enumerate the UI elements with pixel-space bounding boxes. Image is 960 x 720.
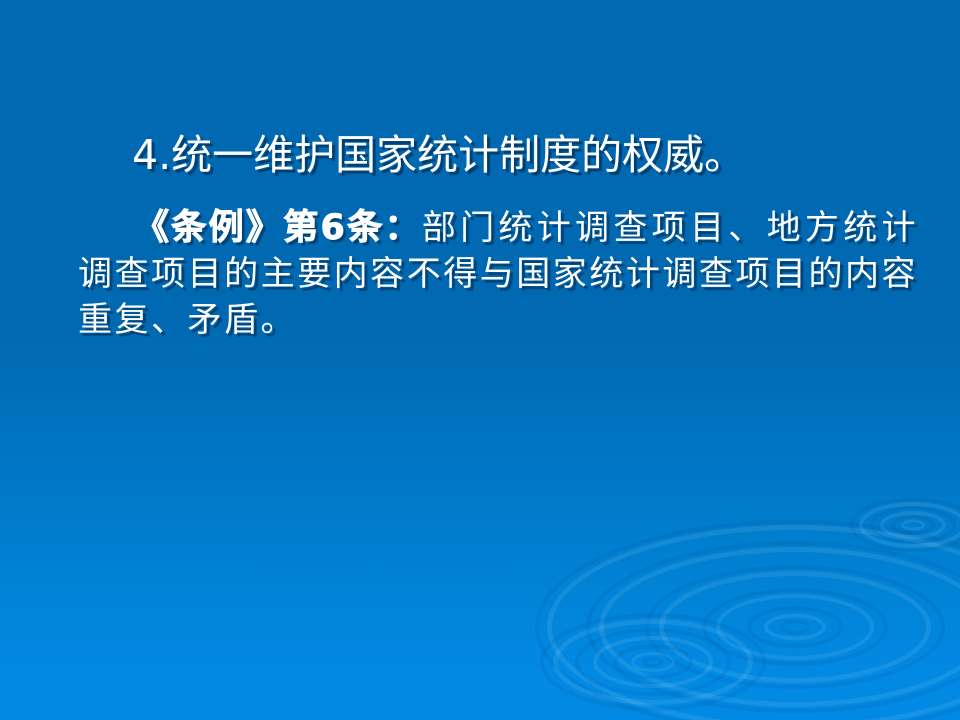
ripple-ring [859, 502, 960, 548]
ripple-ring [747, 606, 843, 648]
slide-body-paragraph: 《条例》第6条：部门统计调查项目、地方统计调查项目的主要内容不得与国家统计调查项… [78, 205, 918, 343]
regulation-citation-lead: 《条例》第6条： [134, 208, 422, 248]
ripple-ring [540, 613, 766, 711]
slide-title-container: 4.统一维护国家统计制度的权威。 [0, 134, 960, 177]
slide-body-container: 《条例》第6条：部门统计调查项目、地方统计调查项目的主要内容不得与国家统计调查项… [78, 205, 918, 343]
ripple-ring [880, 511, 946, 539]
ripple-ring [535, 520, 960, 720]
ripple-ring [547, 525, 960, 720]
ripple-ring [553, 619, 753, 705]
slide-canvas: 4.统一维护国家统计制度的权威。 《条例》第6条：部门统计调查项目、地方统计调查… [0, 0, 960, 720]
ripple-ring [575, 628, 731, 696]
ripple-ring [716, 594, 874, 660]
ripple-ring [780, 620, 810, 634]
ripple-ring [659, 571, 931, 683]
ripple-ring [613, 645, 693, 680]
ripple-ring [599, 547, 960, 707]
ripple-ring [891, 516, 935, 535]
ripple-ring [586, 541, 960, 713]
ripple-ring [593, 636, 713, 688]
slide-title: 4.统一维护国家统计制度的权威。 [0, 134, 960, 177]
ripple-ring [764, 614, 826, 641]
ripple-ring [631, 652, 675, 672]
ripple-ring [643, 657, 663, 667]
ripple-ring [901, 520, 925, 531]
ripple-ring [850, 498, 960, 552]
water-ripple-pattern [0, 0, 960, 720]
ripple-ring [702, 588, 888, 666]
ripple-ring [645, 565, 945, 689]
ripple-ring [870, 507, 956, 544]
